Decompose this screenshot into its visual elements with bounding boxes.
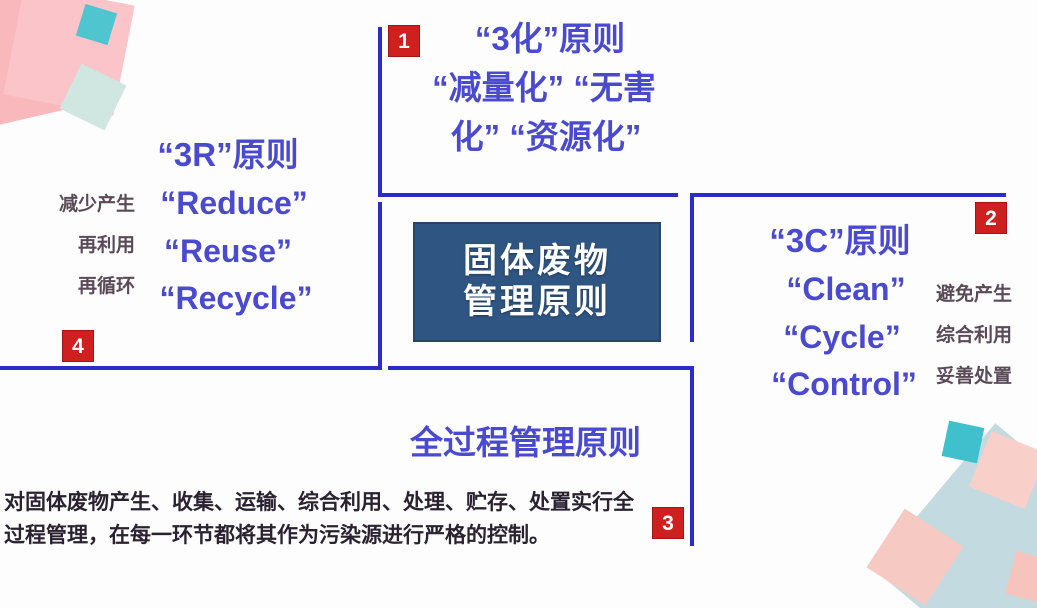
- branch-right-annotation-1: 避免产生: [936, 285, 1037, 305]
- branch-left-item-3: “Recycle”: [136, 280, 336, 318]
- branch-right-annotation-2: 综合利用: [936, 326, 1037, 346]
- branch-left-title: “3R”原则: [128, 136, 328, 175]
- branch-top-line-2: “减量化” “无害: [394, 69, 694, 108]
- connector-line-top-horizontal: [378, 193, 678, 197]
- badge-2[interactable]: 2: [975, 202, 1007, 234]
- center-node-line-2: 管理原则: [463, 282, 611, 323]
- connector-line-bottom-horizontal: [388, 366, 694, 370]
- branch-left-annotation-2: 再利用: [20, 236, 135, 256]
- connector-line-left-horizontal: [0, 366, 382, 370]
- connector-line-bottom-vertical: [690, 366, 694, 546]
- branch-right-title: “3C”原则: [740, 222, 940, 261]
- branch-left-annotation-group: 减少产生 再利用 再循环: [20, 195, 135, 255]
- branch-right-item-1: “Clean”: [746, 271, 946, 309]
- branch-left-annotation-3: 再循环: [20, 277, 135, 297]
- branch-right-item-3: “Control”: [744, 366, 944, 404]
- branch-bottom-title: 全过程管理原则: [410, 424, 641, 463]
- branch-right-text-group: “3C”原则 “Clean” “Cycle” “Control”: [740, 222, 940, 374]
- branch-left-text-group: “3R”原则 “Reduce” “Reuse” “Recycle”: [120, 136, 320, 288]
- badge-4[interactable]: 4: [62, 330, 94, 362]
- center-node-line-1: 固体废物: [463, 241, 611, 282]
- badge-3[interactable]: 3: [652, 507, 684, 539]
- connector-line-right-horizontal: [690, 193, 1006, 197]
- branch-left-item-1: “Reduce”: [134, 185, 334, 223]
- connector-line-top-vertical: [378, 27, 382, 197]
- branch-top-text-group: “3化”原则 “减量化” “无害 化” “资源化”: [400, 20, 700, 137]
- center-node-solid-waste-management-principles[interactable]: 固体废物 管理原则: [413, 222, 661, 342]
- slide-canvas: 固体废物 管理原则 1 “3化”原则 “减量化” “无害 化” “资源化” 4 …: [0, 0, 1037, 608]
- branch-bottom-paragraph: 对固体废物产生、收集、运输、综合利用、处理、贮存、处置实行全过程管理，在每一环节…: [4, 487, 644, 552]
- branch-right-item-2: “Cycle”: [742, 319, 942, 357]
- branch-top-line-3: 化” “资源化”: [396, 118, 696, 157]
- connector-line-right-vertical: [690, 197, 694, 342]
- branch-right-annotation-3: 妥善处置: [936, 367, 1037, 387]
- branch-right-annotation-group: 避免产生 综合利用 妥善处置: [936, 285, 1037, 345]
- connector-line-left-vertical: [378, 202, 382, 370]
- branch-top-title: “3化”原则: [400, 20, 700, 59]
- decor-square-teal-bottomright: [942, 421, 985, 464]
- branch-left-item-2: “Reuse”: [128, 233, 328, 271]
- branch-left-annotation-1: 减少产生: [20, 195, 135, 215]
